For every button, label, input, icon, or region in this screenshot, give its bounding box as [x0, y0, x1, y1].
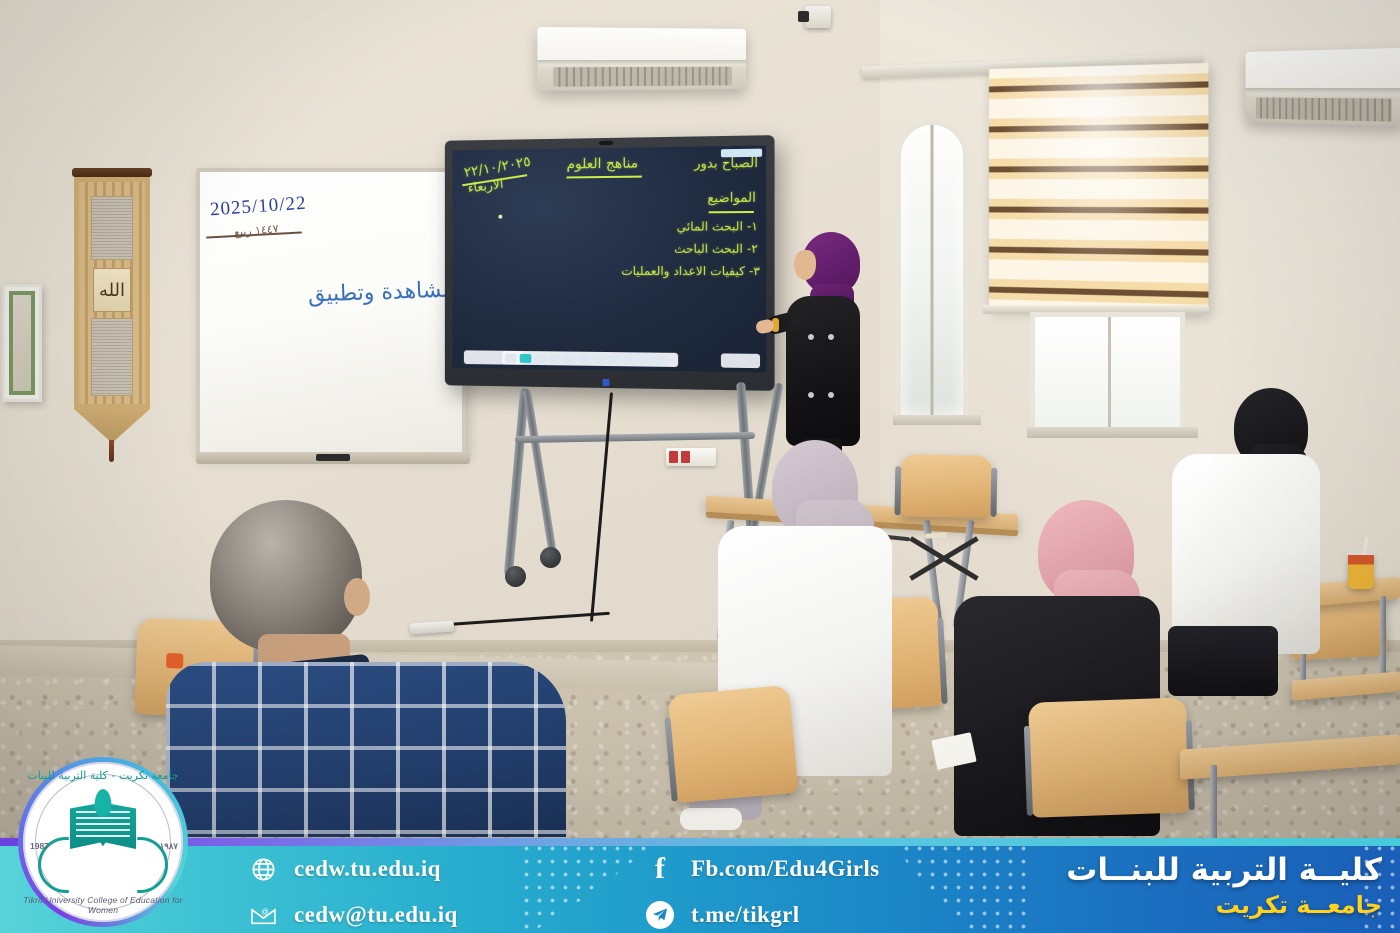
footer-banner: cedw.tu.edu.iq @ cedw@tu.edu.iq f Fb.com… — [0, 838, 1400, 933]
ac-lip — [537, 60, 746, 65]
blazer-button — [828, 392, 834, 398]
student-back-right — [1158, 388, 1324, 688]
cup-lid — [1346, 548, 1376, 555]
toolbar-icon[interactable] — [593, 354, 605, 363]
board-lesson-title: مناهج العلوم — [567, 156, 639, 173]
blazer-button — [828, 334, 834, 340]
student-skirt — [1168, 626, 1278, 696]
contact-email[interactable]: @ cedw@tu.edu.iq — [248, 900, 458, 930]
smartboard-right-toolbar[interactable] — [721, 353, 760, 368]
college-name: كليــة التربية للبنــات — [1066, 852, 1382, 889]
board-title-underline — [567, 176, 642, 179]
instructor-face — [794, 250, 816, 280]
toolbar-icon[interactable] — [623, 355, 635, 364]
smartboard-power-led — [603, 379, 610, 386]
man-ear — [344, 578, 370, 616]
man-head — [210, 500, 362, 652]
allah-calligraphy: الله — [93, 268, 131, 312]
banner-dot-pattern — [520, 842, 646, 932]
board-topics-underline — [709, 211, 754, 213]
classroom-photo: الله 2025/10/22 ١٤٤٧ ربيع مشاهدة وتطبيق … — [0, 0, 1400, 933]
drink-cup — [1348, 553, 1374, 589]
whiteboard-arabic-note: مشاهدة وتطبيق — [307, 277, 454, 307]
ac-lip — [1245, 88, 1400, 94]
chair-back — [668, 685, 799, 803]
board-topic-3: ٣- كيفيات الاعداد والعمليات — [621, 264, 760, 278]
svg-text:@: @ — [261, 907, 268, 916]
logo-english-text: Tikrit University College of Education f… — [18, 895, 188, 915]
socket-switch[interactable] — [681, 451, 690, 463]
board-topic-1: ١- البحث المائي — [677, 219, 758, 234]
chair — [668, 685, 799, 803]
telegram-icon — [645, 900, 675, 930]
plaid-shirt — [166, 662, 566, 837]
window-mullion — [1108, 317, 1111, 427]
facebook-icon: f — [645, 854, 675, 884]
ac-vent — [1255, 97, 1392, 121]
logo-arabic-text: جامعة تكريت - كلية التربية للبنات — [18, 769, 188, 782]
smartboard-main-toolbar[interactable] — [502, 351, 678, 367]
framed-certificate — [2, 284, 42, 402]
smart-board-assembly: ٢٢/١٠/٢٠٢٥ الاربعاء مناهج العلوم الصباح … — [440, 138, 772, 388]
board-ink-dot — [498, 215, 502, 219]
toolbar-icon-active[interactable] — [520, 353, 532, 362]
socket-switch[interactable] — [669, 451, 678, 463]
toolbar-icon[interactable] — [549, 354, 561, 363]
tapestry-body: الله — [74, 177, 150, 409]
ac-vent — [553, 67, 732, 87]
university-name: جامعــة تكريت — [1066, 891, 1382, 919]
whiteboard-date: 2025/10/22 — [209, 193, 307, 222]
blazer-button — [808, 392, 814, 398]
tapestry-tip — [74, 409, 150, 443]
toolbar-icon[interactable] — [608, 355, 620, 364]
toolbar-icon[interactable] — [505, 353, 517, 362]
contact-telegram[interactable]: t.me/tikgrl — [645, 900, 880, 930]
screenshot-root: الله 2025/10/22 ١٤٤٧ ربيع مشاهدة وتطبيق … — [0, 0, 1400, 933]
contact-group-web: cedw.tu.edu.iq @ cedw@tu.edu.iq — [248, 854, 458, 933]
tapestry-text-panel-top — [91, 196, 133, 260]
chair — [1028, 697, 1190, 817]
university-logo: جامعة تكريت - كلية التربية للبنات 1987 ١… — [18, 757, 188, 927]
security-camera-icon — [805, 6, 831, 28]
website-label: cedw.tu.edu.iq — [294, 856, 441, 882]
facebook-label: Fb.com/Edu4Girls — [691, 856, 880, 882]
blazer-button — [808, 334, 814, 340]
banner-dot-pattern — [900, 842, 1026, 932]
interactive-smart-board[interactable]: ٢٢/١٠/٢٠٢٥ الاربعاء مناهج العلوم الصباح … — [445, 135, 775, 391]
arched-window — [896, 120, 968, 420]
air-conditioner-right — [1245, 48, 1400, 126]
air-conditioner-left — [537, 27, 746, 91]
logo-year-latin: 1987 — [30, 841, 49, 851]
whiteboard-marker — [316, 454, 350, 461]
telegram-label: t.me/tikgrl — [691, 902, 800, 928]
toolbar-icon[interactable] — [564, 354, 576, 363]
tapestry-tassel — [109, 440, 114, 462]
smartboard-camera-icon — [599, 141, 613, 145]
globe-icon — [248, 854, 278, 884]
contact-facebook[interactable]: f Fb.com/Edu4Girls — [645, 854, 880, 884]
certificate-inner — [9, 291, 35, 395]
toolbar-icon[interactable] — [653, 355, 665, 364]
student-lab-coat — [1172, 454, 1320, 654]
flame-icon — [95, 789, 112, 817]
chair-rail — [894, 467, 901, 515]
board-topic-2: ٢- البحث الباحث — [674, 242, 758, 256]
contact-website[interactable]: cedw.tu.edu.iq — [248, 854, 458, 884]
toolbar-icon[interactable] — [534, 354, 546, 363]
tapestry-rod — [72, 168, 152, 177]
seated-man — [166, 500, 566, 835]
telegram-glyph — [646, 901, 674, 929]
whiteboard: 2025/10/22 ١٤٤٧ ربيع مشاهدة وتطبيق — [196, 168, 466, 456]
window-mullion — [931, 125, 934, 415]
zebra-blind[interactable] — [989, 63, 1208, 314]
toolbar-icon[interactable] — [638, 355, 650, 364]
college-title-block: كليــة التربية للبنــات جامعــة تكريت — [1066, 852, 1382, 919]
board-greeting: الصباح بدور — [694, 156, 758, 172]
email-label: cedw@tu.edu.iq — [294, 902, 458, 928]
banner-accent-line — [0, 838, 1400, 846]
tapestry-text-panel-bottom — [91, 318, 133, 396]
board-topics-header: المواضيع — [707, 191, 756, 207]
quran-wall-hanging: الله — [68, 168, 156, 456]
student-shoe — [680, 808, 742, 830]
toolbar-icon[interactable] — [578, 354, 590, 363]
chair-back — [1028, 697, 1190, 817]
envelope-icon: @ — [248, 900, 278, 930]
logo-year-arabic: ١٩٨٧ — [160, 841, 178, 852]
smart-board-screen[interactable]: ٢٢/١٠/٢٠٢٥ الاربعاء مناهج العلوم الصباح … — [452, 145, 766, 372]
window-sill — [893, 415, 981, 425]
contact-group-social: f Fb.com/Edu4Girls t.me/tikgrl — [645, 854, 880, 933]
